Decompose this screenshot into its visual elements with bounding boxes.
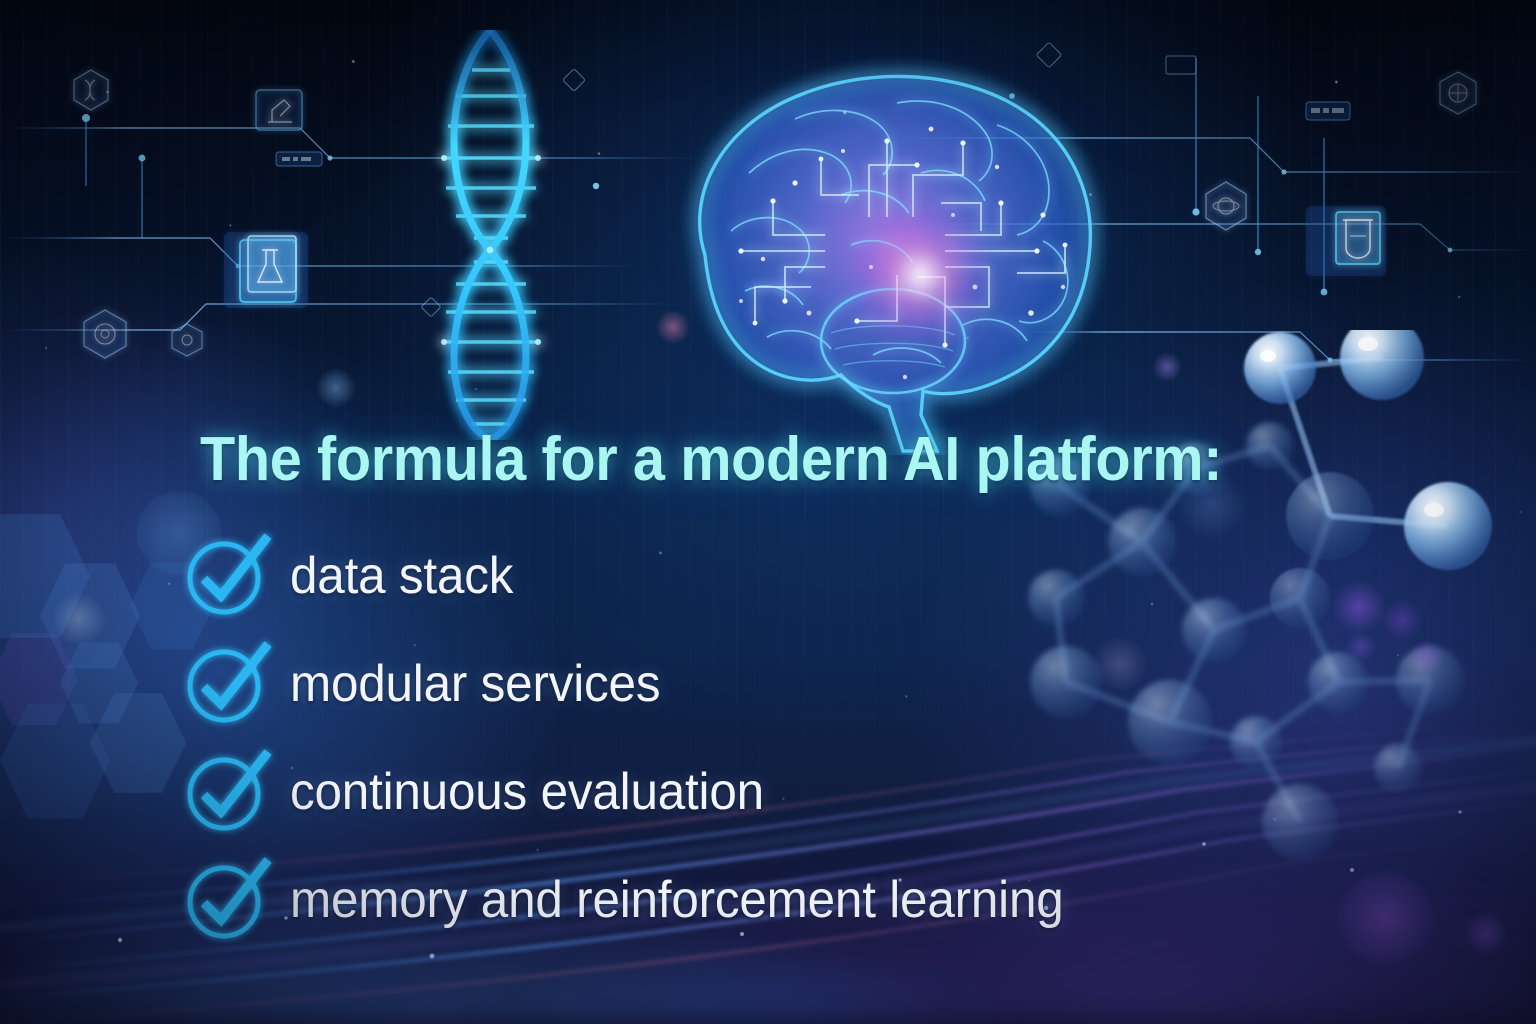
list-item: data stack [186,522,1486,630]
list-item: modular services [186,630,1486,738]
list-item-label: memory and reinforcement learning [290,870,1064,930]
list-item-label: modular services [290,654,660,714]
check-circle-icon [182,638,274,730]
check-circle-icon [182,746,274,838]
slide-content: The formula for a modern AI platform: [0,0,1536,1024]
page-title: The formula for a modern AI platform: [200,424,1222,495]
check-circle-icon [182,530,274,622]
feature-list: data stack modular services [186,522,1486,954]
list-item: continuous evaluation [186,738,1486,846]
ai-platform-slide: The formula for a modern AI platform: [0,0,1536,1024]
list-item-label: continuous evaluation [290,762,764,822]
list-item: memory and reinforcement learning [186,846,1486,954]
list-item-label: data stack [290,546,513,606]
check-circle-icon [182,854,274,946]
